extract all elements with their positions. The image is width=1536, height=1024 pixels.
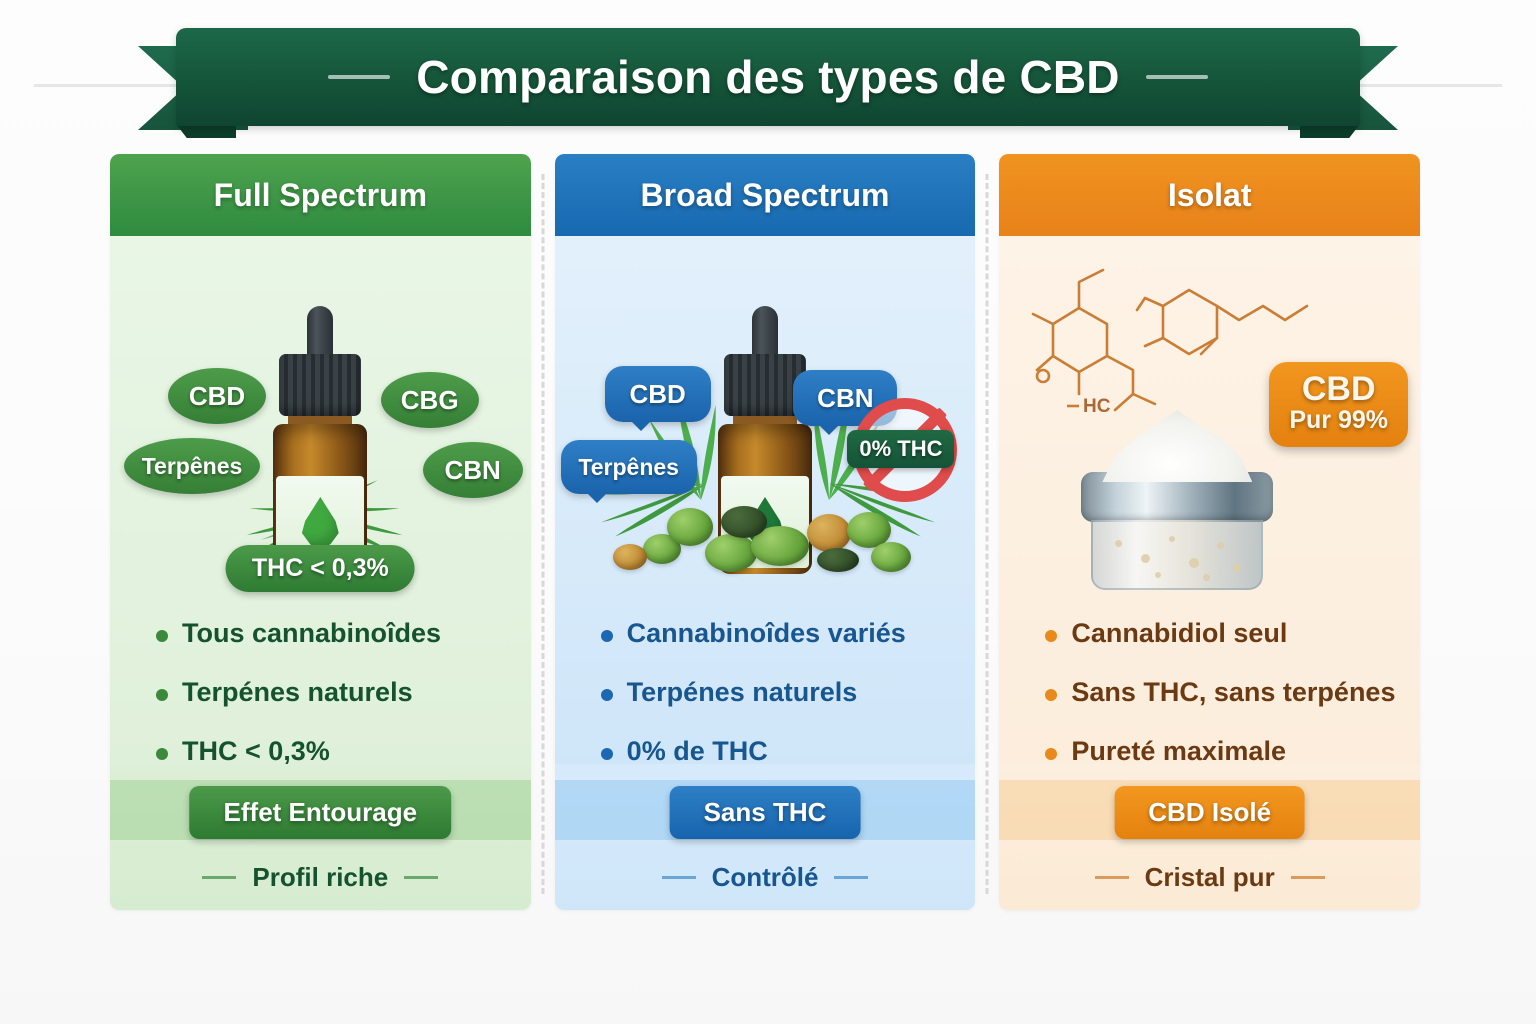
- dropper-tip: [307, 306, 333, 358]
- hemp-bud-icon: [613, 544, 647, 570]
- column-footer-broad-spectrum: Sans THC Contrôlé: [555, 764, 976, 910]
- bullet-dot-icon: [156, 689, 168, 701]
- compound-badge-label: CBN: [445, 455, 501, 486]
- list-item-label: Cannabinoîdes variés: [627, 618, 906, 649]
- dash-right-icon: [404, 876, 438, 879]
- hemp-bud-icon: [871, 542, 911, 572]
- column-isolat[interactable]: Isolat: [999, 154, 1420, 910]
- crystal-grain: [1169, 536, 1175, 542]
- purity-badge-title: CBD: [1289, 372, 1388, 406]
- dash-left-icon: [1095, 876, 1129, 879]
- column-broad-spectrum[interactable]: Broad Spectrum: [555, 154, 976, 910]
- bullet-dot-icon: [601, 748, 613, 760]
- footer-subtitle-full-spectrum: Profil riche: [110, 862, 531, 893]
- list-item-label: 0% de THC: [627, 736, 768, 767]
- column-title-full-spectrum: Full Spectrum: [214, 177, 427, 214]
- hemp-bud-icon: [721, 506, 767, 538]
- list-item: Pureté maximale: [1045, 736, 1400, 767]
- footer-pill-broad-spectrum[interactable]: Sans THC: [670, 786, 861, 839]
- compound-badge-label: CBD: [630, 379, 686, 410]
- bullet-dot-icon: [156, 630, 168, 642]
- footer-subtitle-isolat: Cristal pur: [999, 862, 1420, 893]
- comparison-board: Full Spectrum: [110, 154, 1420, 910]
- column-footer-isolat: CBD Isolé Cristal pur: [999, 764, 1420, 910]
- column-header-isolat: Isolat: [999, 154, 1420, 236]
- footer-subtitle-label: Cristal pur: [1145, 862, 1275, 893]
- column-header-full-spectrum: Full Spectrum: [110, 154, 531, 236]
- compound-badge-label: Terpênes: [142, 453, 243, 480]
- dash-left-icon: [662, 876, 696, 879]
- bullet-dot-icon: [156, 748, 168, 760]
- list-item: Cannabidiol seul: [1045, 618, 1400, 649]
- art-broad-spectrum: CBD CBN Terpênes 0% THC: [555, 236, 976, 604]
- column-footer-full-spectrum: Effet Entourage Profil riche: [110, 764, 531, 910]
- footer-pill-isolat[interactable]: CBD Isolé: [1114, 786, 1305, 839]
- list-item-label: Pureté maximale: [1071, 736, 1286, 767]
- list-item: THC < 0,3%: [156, 736, 511, 767]
- hemp-bud-icon: [667, 508, 713, 546]
- title-ribbon: Comparaison des types de CBD: [0, 28, 1536, 140]
- list-item: Tous cannabinoîdes: [156, 618, 511, 649]
- list-item: Terpénes naturels: [156, 677, 511, 708]
- infographic-canvas: Comparaison des types de CBD Full Spectr…: [0, 0, 1536, 1024]
- hemp-bud-icon: [817, 548, 859, 572]
- list-item: Sans THC, sans terpénes: [1045, 677, 1400, 708]
- compound-badge-terpenes: Terpênes: [124, 438, 260, 494]
- crystal-mound: [1102, 410, 1252, 482]
- purity-badge: CBD Pur 99%: [1269, 362, 1408, 447]
- compound-badge-cbn: CBN: [423, 442, 523, 498]
- list-item-label: Sans THC, sans terpénes: [1071, 677, 1395, 708]
- dropper-tip: [752, 306, 778, 358]
- column-body-broad-spectrum: CBD CBN Terpênes 0% THC: [555, 236, 976, 764]
- list-item: Terpénes naturels: [601, 677, 956, 708]
- crystal-grain: [1203, 574, 1210, 581]
- crystal-grain: [1141, 554, 1150, 563]
- column-body-full-spectrum: CBD CBG Terpênes CBN THC < 0,3%: [110, 236, 531, 764]
- hemp-bud-icon: [705, 534, 757, 572]
- compound-badge-label: Terpênes: [578, 454, 679, 481]
- hemp-bud-icon: [807, 514, 851, 552]
- page-title: Comparaison des types de CBD: [416, 50, 1119, 104]
- purity-badge-subtitle: Pur 99%: [1289, 406, 1388, 435]
- bullet-dot-icon: [601, 630, 613, 642]
- dash-left-icon: [202, 876, 236, 879]
- ribbon-dash-left-icon: [328, 75, 390, 79]
- list-item: 0% de THC: [601, 736, 956, 767]
- dash-right-icon: [834, 876, 868, 879]
- dropper-cap: [279, 354, 361, 416]
- bullet-dot-icon: [1045, 689, 1057, 701]
- footer-pill-full-spectrum[interactable]: Effet Entourage: [190, 786, 452, 839]
- compound-badge-cbg: CBG: [381, 372, 479, 428]
- list-item-label: Terpénes naturels: [182, 677, 413, 708]
- art-isolat: HC: [999, 236, 1420, 604]
- column-divider: [531, 154, 555, 910]
- bullet-dot-icon: [1045, 630, 1057, 642]
- crystal-grain: [1115, 540, 1122, 547]
- compound-badge-label: CBD: [189, 381, 245, 412]
- ribbon-dash-right-icon: [1146, 75, 1208, 79]
- art-full-spectrum: CBD CBG Terpênes CBN THC < 0,3%: [110, 236, 531, 604]
- list-item-label: Tous cannabinoîdes: [182, 618, 441, 649]
- compound-badge-terpenes: Terpênes: [561, 440, 697, 494]
- jar-body: [1091, 520, 1263, 590]
- compound-badge-label: CBG: [401, 385, 459, 416]
- ribbon-fold-right: [1300, 124, 1360, 138]
- list-item-label: Terpénes naturels: [627, 677, 858, 708]
- column-title-isolat: Isolat: [1168, 177, 1252, 214]
- crystal-grain: [1189, 558, 1199, 568]
- column-header-broad-spectrum: Broad Spectrum: [555, 154, 976, 236]
- list-item: Cannabinoîdes variés: [601, 618, 956, 649]
- crystal-grain: [1217, 542, 1224, 549]
- no-thc-label: 0% THC: [847, 430, 954, 468]
- bullet-dot-icon: [601, 689, 613, 701]
- bullet-dot-icon: [1045, 748, 1057, 760]
- list-item-label: THC < 0,3%: [182, 736, 330, 767]
- crystal-grain: [1233, 564, 1241, 572]
- crystal-jar-icon: [1079, 410, 1275, 590]
- footer-subtitle-label: Profil riche: [252, 862, 388, 893]
- oil-drop-icon: [300, 497, 340, 547]
- column-divider: [975, 154, 999, 910]
- ribbon-body: Comparaison des types de CBD: [176, 28, 1360, 126]
- thc-limit-badge: THC < 0,3%: [226, 545, 415, 592]
- compound-badge-cbd: CBD: [605, 366, 711, 422]
- dropper-bottle-icon: [268, 306, 372, 574]
- compound-badge-cbd: CBD: [168, 368, 266, 424]
- column-body-isolat: HC: [999, 236, 1420, 764]
- list-item-label: Cannabidiol seul: [1071, 618, 1287, 649]
- footer-subtitle-broad-spectrum: Contrôlé: [555, 862, 976, 893]
- column-full-spectrum[interactable]: Full Spectrum: [110, 154, 531, 910]
- crystal-grain: [1155, 572, 1161, 578]
- no-thc-sign: 0% THC: [845, 396, 969, 508]
- ribbon-fold-left: [176, 124, 236, 138]
- column-title-broad-spectrum: Broad Spectrum: [641, 177, 890, 214]
- footer-subtitle-label: Contrôlé: [712, 862, 819, 893]
- dash-right-icon: [1291, 876, 1325, 879]
